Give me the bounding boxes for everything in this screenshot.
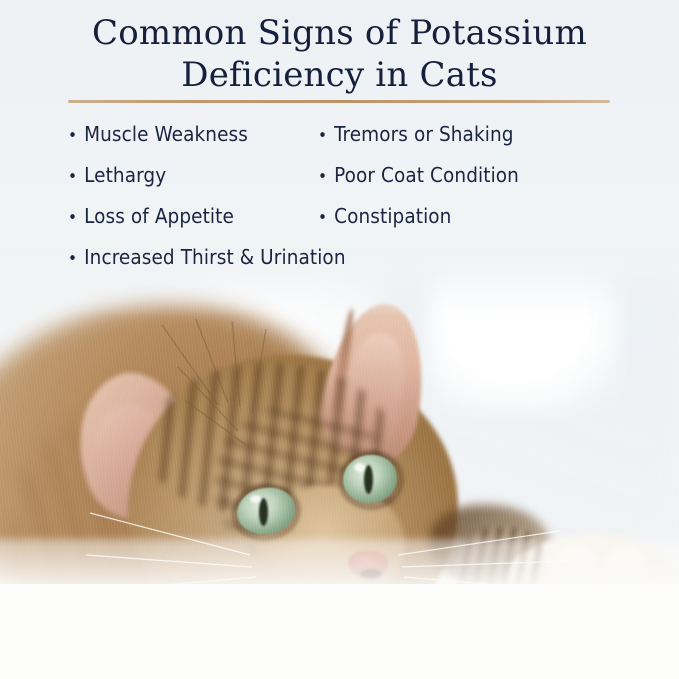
bullet-icon: •	[68, 210, 77, 227]
bullet-icon: •	[318, 128, 327, 145]
list-item-label: Tremors or Shaking	[334, 122, 513, 146]
header-panel: Common Signs of Potassium Deficiency in …	[0, 0, 679, 290]
page-title-line-2: Deficiency in Cats	[0, 54, 679, 96]
list-item-label: Constipation	[334, 204, 451, 228]
list-item: • Loss of Appetite	[68, 204, 310, 245]
bullet-icon: •	[68, 128, 77, 145]
list-item: • Tremors or Shaking	[318, 122, 679, 163]
symptoms-column-left: • Muscle Weakness • Lethargy • Loss of A…	[0, 122, 310, 286]
list-item: • Constipation	[318, 204, 679, 245]
page-title: Common Signs of Potassium Deficiency in …	[0, 12, 679, 96]
list-item-label: Loss of Appetite	[84, 204, 234, 228]
list-item-label: Poor Coat Condition	[334, 163, 519, 187]
list-item-label: Lethargy	[84, 163, 166, 187]
bullet-icon: •	[318, 210, 327, 227]
symptoms-lists: • Muscle Weakness • Lethargy • Loss of A…	[0, 122, 679, 286]
bullet-icon: •	[318, 169, 327, 186]
symptoms-column-right: • Tremors or Shaking • Poor Coat Conditi…	[310, 122, 679, 286]
bullet-icon: •	[68, 169, 77, 186]
list-item: • Poor Coat Condition	[318, 163, 679, 204]
cat-photo	[0, 255, 679, 679]
list-item-label: Increased Thirst & Urination	[84, 245, 345, 269]
list-item: • Muscle Weakness	[68, 122, 310, 163]
list-item: • Increased Thirst & Urination	[68, 245, 310, 286]
page-title-line-1: Common Signs of Potassium	[0, 12, 679, 54]
list-item-label: Muscle Weakness	[84, 122, 248, 146]
infographic-poster: Common Signs of Potassium Deficiency in …	[0, 0, 679, 679]
list-item: • Lethargy	[68, 163, 310, 204]
bullet-icon: •	[68, 251, 77, 268]
photo-surface-base	[0, 584, 679, 679]
title-divider	[68, 100, 610, 103]
